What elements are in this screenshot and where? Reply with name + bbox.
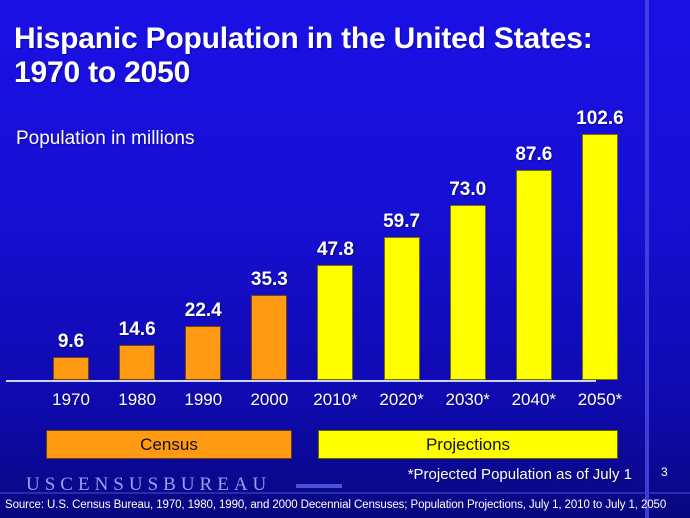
- bar-2040[interactable]: [516, 170, 552, 380]
- x-axis-line: [6, 380, 596, 382]
- bar-slot: 22.4: [170, 120, 236, 380]
- bar-slot: 9.6: [38, 120, 104, 380]
- bar-value-label: 102.6: [576, 108, 624, 130]
- bar-value-label: 22.4: [185, 300, 222, 322]
- bar-value-label: 35.3: [251, 269, 288, 291]
- legend-band-census: Census: [46, 430, 292, 459]
- x-axis-tick-labels: 19701980199020002010*2020*2030*2040*2050…: [38, 390, 633, 410]
- bar-slot: 87.6: [501, 120, 567, 380]
- x-tick-2020: 2020*: [369, 390, 435, 410]
- x-tick-2040: 2040*: [501, 390, 567, 410]
- legend-band-projections: Projections: [318, 430, 618, 459]
- bar-2020[interactable]: [384, 237, 420, 380]
- slide: Hispanic Population in the United States…: [0, 0, 690, 518]
- x-tick-2010: 2010*: [302, 390, 368, 410]
- bar-2050[interactable]: [582, 134, 618, 380]
- footer-divider: [0, 492, 690, 494]
- projection-footnote: *Projected Population as of July 1: [408, 466, 632, 483]
- bar-2030[interactable]: [450, 205, 486, 380]
- bar-2000[interactable]: [251, 295, 287, 380]
- bar-value-label: 73.0: [449, 179, 486, 201]
- x-tick-2030: 2030*: [435, 390, 501, 410]
- bar-value-label: 14.6: [119, 319, 156, 341]
- bar-slot: 73.0: [435, 120, 501, 380]
- bar-value-label: 47.8: [317, 239, 354, 261]
- source-citation: Source: U.S. Census Bureau, 1970, 1980, …: [5, 499, 666, 511]
- x-tick-2050: 2050*: [567, 390, 633, 410]
- bar-2010[interactable]: [317, 265, 353, 380]
- logo-dash-icon: [296, 484, 342, 488]
- x-tick-2000: 2000: [236, 390, 302, 410]
- legend: Census Projections: [46, 430, 618, 459]
- bar-value-label: 59.7: [383, 211, 420, 233]
- bar-slot: 35.3: [236, 120, 302, 380]
- bar-1970[interactable]: [53, 357, 89, 380]
- bar-series-container: 9.614.622.435.347.859.773.087.6102.6: [38, 120, 633, 380]
- bar-slot: 102.6: [567, 120, 633, 380]
- bar-slot: 14.6: [104, 120, 170, 380]
- bar-slot: 59.7: [369, 120, 435, 380]
- page-number: 3: [661, 465, 668, 479]
- x-tick-1990: 1990: [170, 390, 236, 410]
- right-accent-rule: [645, 0, 649, 518]
- bar-value-label: 87.6: [515, 144, 552, 166]
- page-title: Hispanic Population in the United States…: [14, 22, 614, 90]
- bar-slot: 47.8: [302, 120, 368, 380]
- x-tick-1970: 1970: [38, 390, 104, 410]
- bar-chart-plot-area: 9.614.622.435.347.859.773.087.6102.6: [38, 120, 633, 380]
- x-tick-1980: 1980: [104, 390, 170, 410]
- bar-1990[interactable]: [185, 326, 221, 380]
- bar-value-label: 9.6: [58, 331, 84, 353]
- bar-1980[interactable]: [119, 345, 155, 380]
